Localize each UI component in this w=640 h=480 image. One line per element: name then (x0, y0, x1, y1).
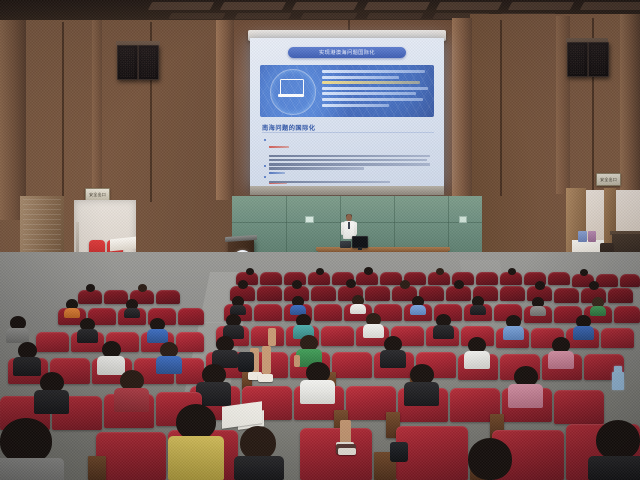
backpack[interactable] (238, 352, 254, 372)
shoe[interactable] (258, 374, 273, 382)
slide-section-rule (262, 132, 434, 133)
leg (262, 346, 271, 374)
seat[interactable] (178, 308, 204, 325)
presenter-arm-right (354, 222, 357, 235)
speaker-grill (141, 48, 156, 77)
speaker-left-1 (117, 45, 138, 80)
seat[interactable] (78, 290, 102, 304)
presentation-slide: 实现港澳海问题国际化 南海问题的国际化 (254, 41, 440, 184)
wall-seam-4 (500, 20, 502, 196)
seat[interactable] (601, 328, 634, 348)
presenter-desk-top (316, 247, 450, 251)
wall-column-left (0, 20, 26, 220)
wall-column-center-left (216, 20, 234, 200)
seat[interactable] (36, 332, 69, 352)
exit-sign-right: 安全出口 (596, 173, 621, 186)
seat[interactable] (554, 390, 604, 424)
seat[interactable] (380, 272, 402, 285)
stage-wall-plate-right (459, 216, 467, 223)
phone-screen[interactable] (612, 372, 624, 390)
laptop-on-desk[interactable] (340, 241, 351, 248)
speaker-left-2 (138, 45, 159, 80)
seat[interactable] (554, 288, 579, 303)
wall-seam-1 (62, 22, 64, 212)
laptop-icon (278, 79, 304, 99)
wall-column-center-right (452, 18, 472, 198)
seat[interactable] (300, 428, 372, 480)
shoe[interactable] (338, 448, 356, 455)
seat[interactable] (332, 352, 372, 378)
presenter-tie (348, 222, 350, 229)
stage-wall-plate-left (305, 216, 314, 223)
table-item-2 (588, 231, 596, 242)
speaker-grill (591, 45, 606, 74)
speaker-right-2 (588, 42, 609, 77)
seat[interactable] (104, 290, 128, 304)
exit-sign-right-text: 安全出口 (600, 177, 617, 183)
slide-bullet-3 (264, 174, 432, 184)
leg (268, 328, 276, 346)
slide-title-pill: 实现港澳海问题国际化 (288, 47, 406, 58)
seat[interactable] (614, 306, 640, 323)
leg (340, 420, 351, 444)
exit-sign-left-text: 安全出口 (89, 192, 106, 198)
slide-title-text: 实现港澳海问题国际化 (319, 49, 375, 56)
wall-column-left-2 (92, 20, 102, 200)
stage-wall-line-v1 (286, 196, 287, 256)
seat[interactable] (365, 286, 390, 301)
slide-hero-banner (260, 65, 434, 117)
seat[interactable] (608, 288, 633, 303)
stage-wall-line-h (232, 222, 482, 223)
presenter-head (346, 214, 352, 221)
presenter-arm-left (341, 222, 344, 235)
backpack[interactable] (390, 442, 408, 462)
bullet-dot (264, 139, 266, 141)
projection-screen[interactable]: 实现港澳海问题国际化 南海问题的国际化 (250, 38, 444, 190)
seat[interactable] (156, 290, 180, 304)
screen-bottom-bar (250, 186, 444, 195)
seat[interactable] (314, 304, 342, 321)
seat[interactable] (176, 332, 204, 352)
seat[interactable] (620, 274, 640, 287)
seat[interactable] (476, 272, 498, 285)
speaker-grill (120, 48, 135, 77)
seat[interactable] (260, 272, 282, 285)
seat[interactable] (96, 432, 166, 480)
bullet-dot (264, 176, 266, 178)
seat[interactable] (321, 326, 354, 346)
seat[interactable] (548, 272, 570, 285)
wall-column-right-2 (620, 14, 640, 194)
arm (294, 355, 300, 367)
seat[interactable] (311, 286, 336, 301)
seat[interactable] (596, 274, 618, 287)
slide-section-heading: 南海问题的国际化 (262, 123, 316, 132)
speaker-grill (570, 45, 585, 74)
seat[interactable] (254, 304, 282, 321)
table-item-1 (578, 231, 587, 242)
monitor-stand (358, 247, 362, 250)
seat[interactable] (500, 286, 525, 301)
bullet-dot (264, 165, 266, 167)
seat[interactable] (257, 286, 282, 301)
speaker-right-1 (567, 42, 588, 77)
lecture-hall-photo: 安全出口 安全出口 实现港澳海问题国际化 (0, 0, 640, 480)
hero-bullet-lines (322, 70, 429, 109)
seat-armrest (88, 456, 106, 480)
